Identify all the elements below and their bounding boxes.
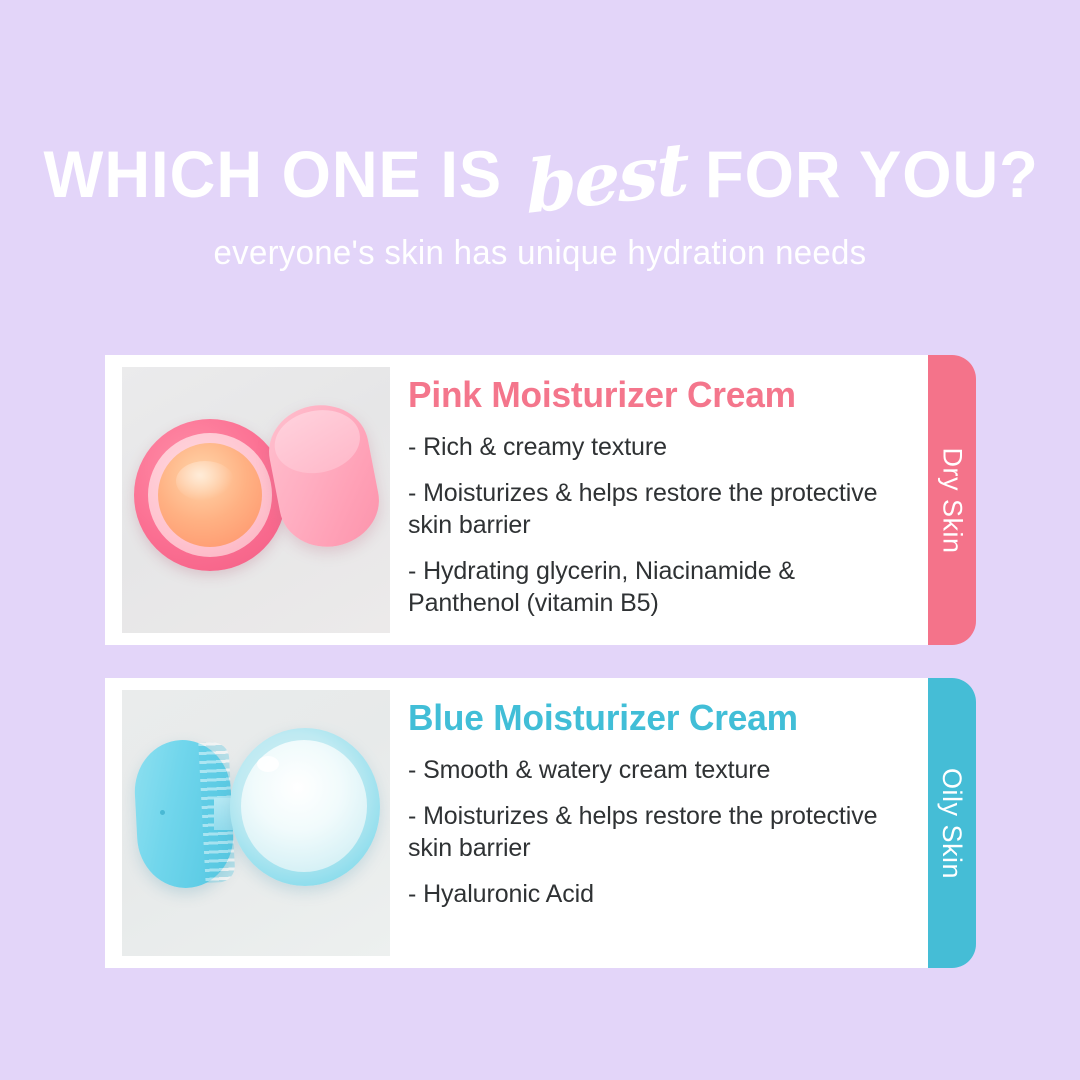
skin-type-tab-label: Dry Skin <box>937 447 968 553</box>
feature-item: - Hyaluronic Acid <box>408 878 908 910</box>
card-body: Pink Moisturizer Cream - Rich & creamy t… <box>105 355 930 645</box>
feature-item: - Smooth & watery cream texture <box>408 754 908 786</box>
product-card-blue[interactable]: Blue Moisturizer Cream - Smooth & watery… <box>0 678 1080 968</box>
card-text-block: Pink Moisturizer Cream - Rich & creamy t… <box>390 355 930 619</box>
pink-moisturizer-jar-photo <box>122 367 390 633</box>
product-card-list: Pink Moisturizer Cream - Rich & creamy t… <box>0 355 1080 1001</box>
skin-type-tab-dry[interactable]: Dry Skin <box>928 355 976 645</box>
feature-item: - Moisturizes & helps restore the protec… <box>408 477 908 541</box>
page-subtitle: everyone's skin has unique hydration nee… <box>16 208 1064 273</box>
product-card-pink[interactable]: Pink Moisturizer Cream - Rich & creamy t… <box>0 355 1080 645</box>
card-body: Blue Moisturizer Cream - Smooth & watery… <box>105 678 930 968</box>
skin-type-tab-label: Oily Skin <box>937 767 968 878</box>
blue-jar-lid-dot-icon <box>160 810 165 815</box>
pink-jar-lid-icon <box>261 397 386 555</box>
page-header: WHICH ONE ISbestFOR YOU? everyone's skin… <box>0 0 1080 273</box>
feature-item: - Hydrating glycerin, Niacinamide & Pant… <box>408 555 908 619</box>
pink-cream-icon <box>158 443 262 547</box>
product-title-blue: Blue Moisturizer Cream <box>408 700 898 736</box>
blue-cream-icon <box>241 740 367 872</box>
feature-item: - Moisturizes & helps restore the protec… <box>408 800 908 864</box>
feature-item: - Rich & creamy texture <box>408 431 908 463</box>
blue-moisturizer-jar-photo <box>122 690 390 956</box>
card-text-block: Blue Moisturizer Cream - Smooth & watery… <box>390 678 930 910</box>
headline-prefix: WHICH ONE IS <box>44 141 503 207</box>
skin-type-tab-oily[interactable]: Oily Skin <box>928 678 976 968</box>
headline-suffix: FOR YOU? <box>705 141 1039 207</box>
page-title: WHICH ONE ISbestFOR YOU? <box>0 0 1080 208</box>
product-title-pink: Pink Moisturizer Cream <box>408 377 898 413</box>
